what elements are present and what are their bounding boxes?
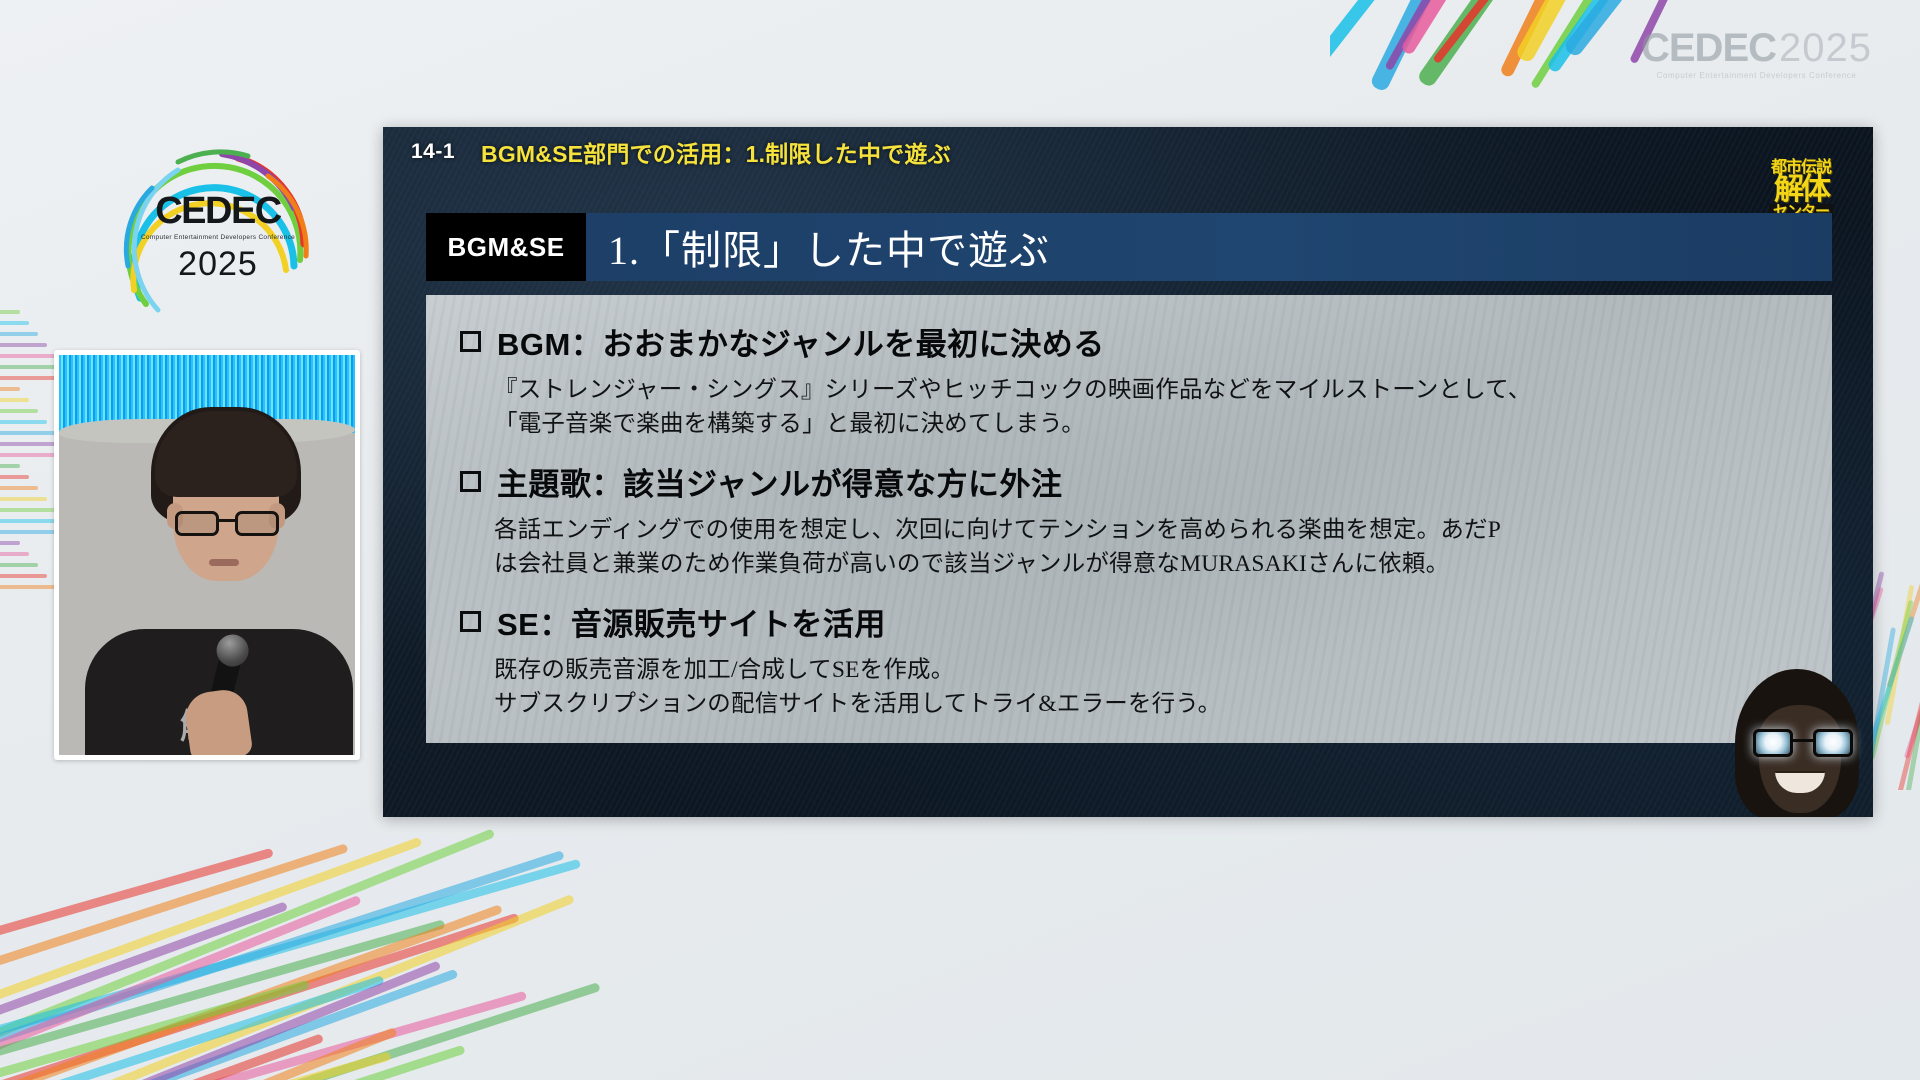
pip-glasses [1753, 729, 1853, 759]
speaker-camera-frame: 解体 [59, 355, 355, 755]
glasses-lens-right [235, 511, 279, 536]
bullet-heading-text: 主題歌：該当ジャンルが得意な方に外注 [497, 459, 1062, 504]
checkbox-square-icon [460, 611, 481, 632]
speaker-camera-inset: 解体 [54, 350, 360, 760]
slide-section-number: 14-1 [411, 140, 455, 164]
slide-title-tag: BGM&SE [426, 213, 586, 281]
checkbox-square-icon [460, 331, 481, 352]
cedec-logo-year: 2025 [118, 245, 318, 284]
speaker-head [151, 407, 301, 597]
speaker-hair-front [155, 411, 297, 497]
bullet-block: BGM：おおまかなジャンルを最初に決める『ストレンジャー・シングス』シリーズやヒ… [460, 319, 1798, 441]
bullet-body-line: 各話エンディングでの使用を想定し、次回に向けてテンションを高められる楽曲を想定。… [494, 513, 1798, 547]
bullet-block: 主題歌：該当ジャンルが得意な方に外注各話エンディングでの使用を想定し、次回に向け… [460, 459, 1798, 581]
bullet-heading: BGM：おおまかなジャンルを最初に決める [460, 319, 1798, 364]
glasses-bridge [219, 519, 235, 522]
bullet-body-line: 「電子音楽で楽曲を構築する」と最初に決めてしまう。 [494, 407, 1798, 441]
bullet-body-line: サブスクリプションの配信サイトを活用してトライ&エラーを行う。 [494, 687, 1798, 721]
bullet-heading: 主題歌：該当ジャンルが得意な方に外注 [460, 459, 1798, 504]
bullet-heading-text: SE：音源販売サイトを活用 [497, 599, 886, 644]
bullet-body: 『ストレンジャー・シングス』シリーズやヒッチコックの映画作品などをマイルストーン… [494, 373, 1798, 441]
pip-glasses-bridge [1793, 739, 1813, 742]
slide-title-band: BGM&SE 1.「制限」した中で遊ぶ [426, 213, 1832, 281]
bullet-body: 各話エンディングでの使用を想定し、次回に向けてテンションを高められる楽曲を想定。… [494, 513, 1798, 581]
cedec-wordmark-tagline: Computer Entertainment Developers Confer… [1641, 71, 1872, 80]
bullet-body-line: 『ストレンジャー・シングス』シリーズやヒッチコックの映画作品などをマイルストーン… [494, 373, 1798, 407]
slide-section-title: BGM&SE部門での活用：1.制限した中で遊ぶ [481, 135, 951, 169]
bullet-body-line: 既存の販売音源を加工/合成してSEを作成。 [494, 653, 1798, 687]
cedec-logo-tagline: Computer Entertainment Developers Confer… [118, 234, 318, 241]
cedec-wordmark-name: CEDEC [1641, 28, 1776, 68]
show-logo-line2: 解体 [1774, 175, 1828, 205]
slide-content-panel: BGM：おおまかなジャンルを最初に決める『ストレンジャー・シングス』シリーズやヒ… [426, 295, 1832, 743]
slide-section-title-plain: BGM&SE部門での活用： [481, 141, 746, 167]
bullet-body-line: は会社員と兼業のため作業負荷が高いので該当ジャンルが得意なMURASAKIさんに… [494, 547, 1798, 581]
cedec-wordmark-year: 2025 [1779, 28, 1872, 68]
slide-title-text: 1.「制限」した中で遊ぶ [586, 213, 1832, 281]
bullet-heading-text: BGM：おおまかなジャンルを最初に決める [497, 319, 1105, 364]
bullet-heading: SE：音源販売サイトを活用 [460, 599, 1798, 644]
speaker-glasses [175, 511, 279, 537]
slide-header: 14-1 BGM&SE部門での活用：1.制限した中で遊ぶ [383, 127, 1873, 177]
speaker-mouth [209, 559, 239, 566]
glasses-lens-left [175, 511, 219, 536]
pip-lens-right [1813, 729, 1853, 757]
cedec-logo-name: CEDEC [118, 192, 318, 230]
presentation-slide: 14-1 BGM&SE部門での活用：1.制限した中で遊ぶ 都市伝説 解体 センタ… [383, 127, 1873, 817]
bullet-body: 既存の販売音源を加工/合成してSEを作成。サブスクリプションの配信サイトを活用し… [494, 653, 1798, 721]
checkbox-square-icon [460, 471, 481, 492]
pip-lens-left [1753, 729, 1793, 757]
cedec-wordmark: CEDEC 2025 Computer Entertainment Develo… [1641, 28, 1872, 80]
cedec-circle-logo: CEDEC Computer Entertainment Developers … [118, 148, 318, 326]
bullet-block: SE：音源販売サイトを活用既存の販売音源を加工/合成してSEを作成。サブスクリプ… [460, 599, 1798, 721]
slide-section-title-bold: 1.制限した中で遊ぶ [746, 141, 951, 167]
